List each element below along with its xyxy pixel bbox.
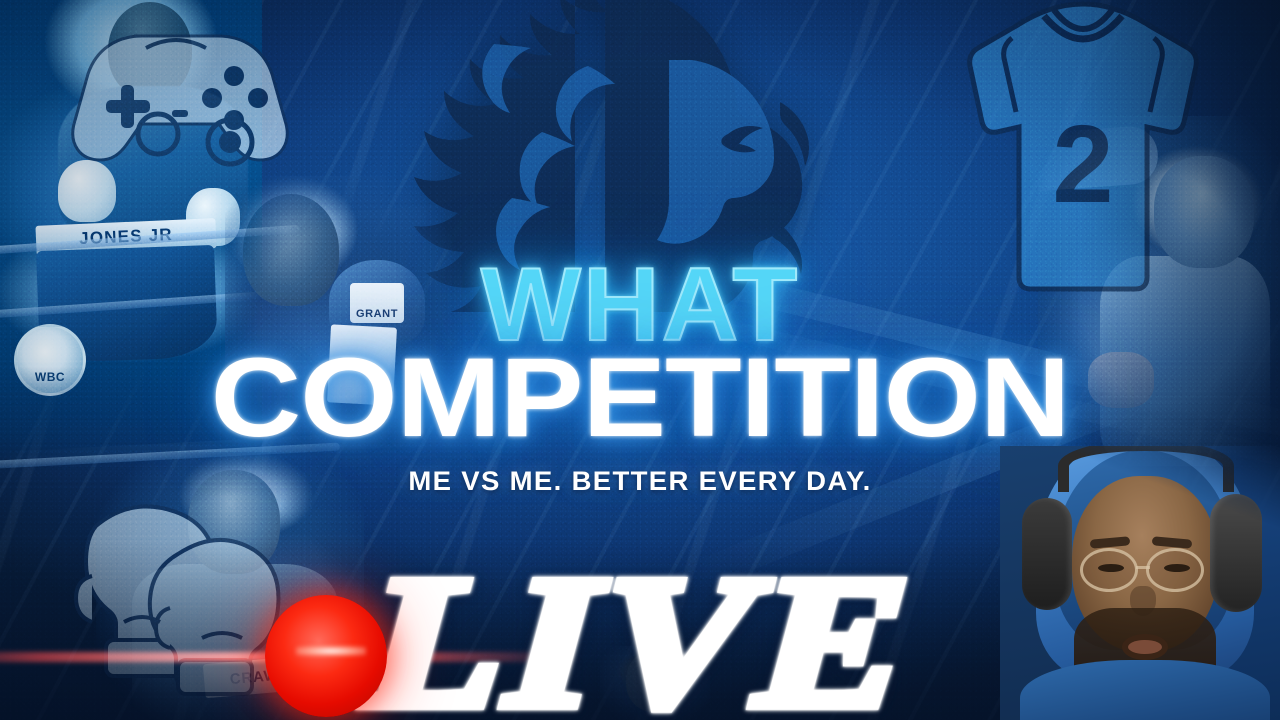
shoulders <box>1020 660 1270 720</box>
headphones-band <box>1058 446 1234 492</box>
lens-flare-core <box>296 646 366 656</box>
stream-thumbnail: JONES JR WBC GRANT CRAWFORD <box>0 0 1280 720</box>
eye-left <box>1098 564 1124 572</box>
live-badge-text: LIVE <box>361 548 919 720</box>
title-line-competition: COMPETITION <box>0 348 1280 449</box>
recording-dot-icon <box>265 595 387 717</box>
eye-right <box>1164 564 1190 572</box>
headphone-earcup-right <box>1210 494 1262 612</box>
mouth-inner <box>1128 640 1162 654</box>
glasses-bridge <box>1136 566 1150 569</box>
headphone-earcup-left <box>1022 498 1072 610</box>
streamer-webcam-overlay <box>1000 446 1280 720</box>
